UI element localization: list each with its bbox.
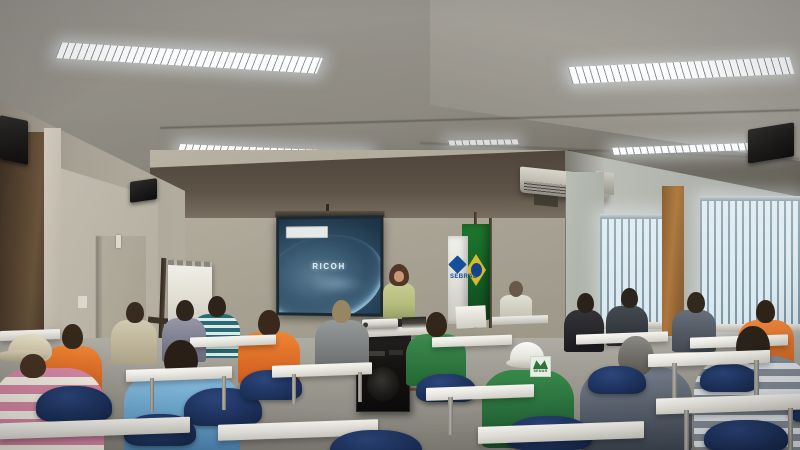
audience-head — [20, 354, 46, 378]
blind-rail — [700, 196, 800, 201]
audience-head — [332, 300, 351, 323]
chair[interactable] — [588, 366, 646, 394]
senar-logo: SENAR — [530, 356, 551, 377]
air-conditioner-duct — [534, 194, 558, 208]
senar-mark-icon — [533, 359, 548, 369]
institution-flag-text: SEBRAE — [450, 274, 465, 280]
pa-port-icon — [389, 350, 403, 355]
audience-torso — [315, 320, 369, 368]
presenter-face — [394, 271, 404, 282]
desk-leg — [292, 374, 296, 404]
audience-head — [126, 302, 144, 323]
photo-scene: RICOH SEBRAE — [0, 0, 800, 450]
audience-torso — [564, 310, 604, 352]
wall-speaker-icon — [0, 115, 28, 165]
audience-torso — [111, 320, 157, 364]
wall-speaker-icon — [130, 178, 157, 203]
blind-rail — [600, 214, 662, 219]
desk-leg — [358, 372, 362, 402]
audience-head — [258, 310, 280, 336]
audience-head — [208, 296, 226, 317]
projection-screen: RICOH — [276, 215, 383, 317]
seated-host-head — [509, 281, 523, 297]
projector[interactable] — [362, 318, 398, 329]
projected-slide: RICOH — [279, 218, 380, 313]
slide-logo-text: RICOH — [279, 262, 380, 271]
wall-speaker-icon — [748, 122, 794, 163]
light-switch[interactable] — [116, 235, 121, 248]
stack-of-papers[interactable] — [455, 305, 486, 329]
audience-head — [426, 312, 447, 337]
window-right — [700, 196, 800, 328]
desk-leg — [448, 397, 453, 435]
laptop[interactable] — [402, 317, 426, 329]
slide-ui-box — [286, 226, 328, 239]
wall-outlet — [78, 296, 87, 308]
audience-head — [62, 324, 83, 349]
desk-leg — [684, 410, 689, 450]
audience-head — [621, 288, 638, 308]
vertical-blinds-icon[interactable] — [700, 196, 800, 328]
slide-glow — [309, 273, 365, 294]
audience-head — [577, 293, 594, 313]
chair[interactable] — [704, 420, 788, 450]
senar-logo-text: SENAR — [531, 369, 550, 373]
institution-logo-icon — [448, 255, 466, 273]
audience-head — [176, 300, 194, 321]
audience-head — [687, 292, 705, 313]
chair[interactable] — [36, 386, 112, 422]
audience-head — [756, 300, 775, 323]
presenter-torso — [383, 283, 415, 319]
chair[interactable] — [700, 364, 758, 392]
desk-leg — [150, 378, 154, 412]
desk-leg — [222, 376, 226, 410]
desk-leg — [788, 408, 793, 450]
